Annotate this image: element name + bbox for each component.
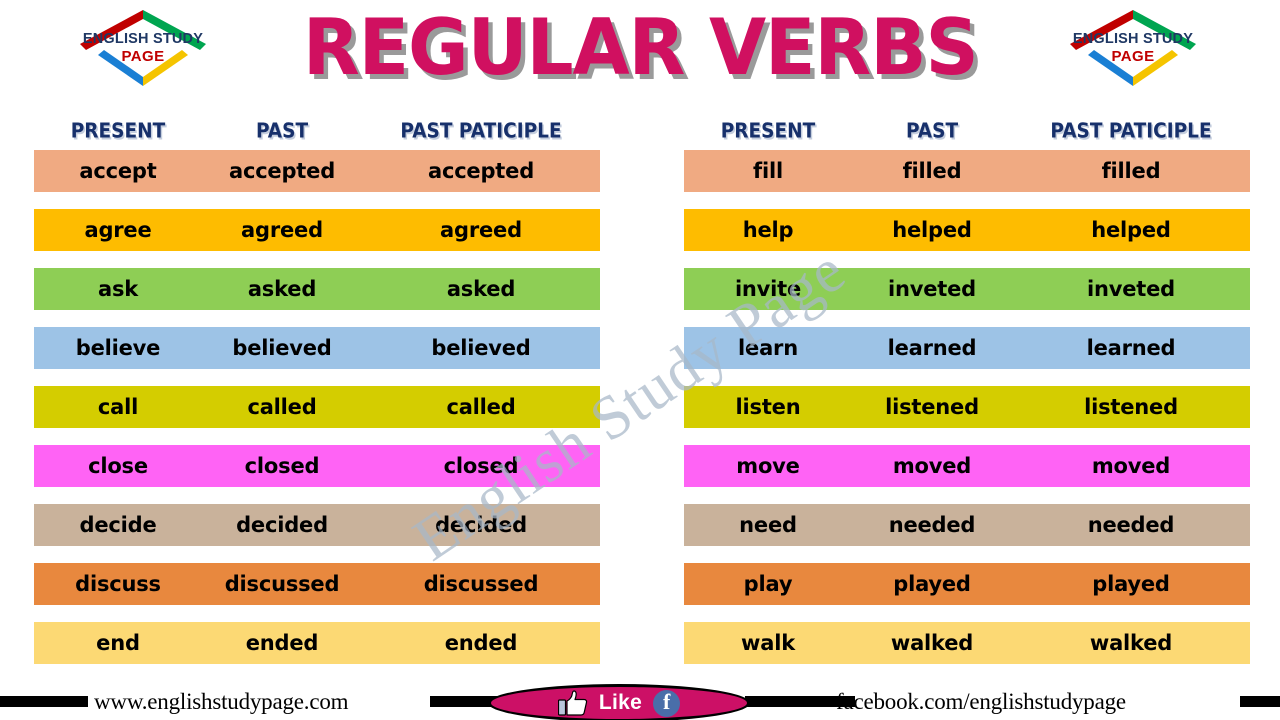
facebook-url[interactable]: facebook.com/englishstudypage [836,686,1126,718]
cell-past: moved [852,454,1012,478]
column-header-past-participle: PAST PATICIPLE [1012,119,1250,143]
column-header-present: PRESENT [684,119,852,143]
verbs-table-right: PRESENT PAST PAST PATICIPLE fillfilledfi… [684,112,1250,681]
page-title-text: REGULAR VERBS [303,2,978,93]
cell-present: learn [684,336,852,360]
cell-past: helped [852,218,1012,242]
cell-past: filled [852,159,1012,183]
table-row: endendedended [34,622,600,664]
cell-present: fill [684,159,852,183]
cell-present: agree [34,218,202,242]
table-body: fillfilledfilledhelphelpedhelpedinvitein… [684,150,1250,664]
table-row: agreeagreedagreed [34,209,600,251]
cell-present: play [684,572,852,596]
logo-line1: ENGLISH STUDY [1073,32,1193,47]
cell-past: needed [852,513,1012,537]
cell-present: need [684,513,852,537]
cell-past: played [852,572,1012,596]
page-title: REGULAR VERBS [300,4,980,90]
table-row: believebelievedbelieved [34,327,600,369]
table-row: playplayedplayed [684,563,1250,605]
table-row: learnlearnedlearned [684,327,1250,369]
cell-present: discuss [34,572,202,596]
cell-past: inveted [852,277,1012,301]
cell-past-participle: asked [362,277,600,301]
cell-past: discussed [202,572,362,596]
footer-rule-left [0,696,88,707]
table-row: helphelpedhelped [684,209,1250,251]
cell-past-participle: ended [362,631,600,655]
cell-present: listen [684,395,852,419]
logo-line1: ENGLISH STUDY [83,32,203,47]
table-row: discussdiscusseddiscussed [34,563,600,605]
cell-past: closed [202,454,362,478]
cell-present: invite [684,277,852,301]
logo-english-study-page-left: ENGLISH STUDY PAGE [68,4,218,92]
cell-past-participle: believed [362,336,600,360]
header: ENGLISH STUDY PAGE REGULAR VERBS ENGLISH… [0,0,1280,100]
cell-past-participle: filled [1012,159,1250,183]
cell-past-participle: called [362,395,600,419]
logo-english-study-page-right: ENGLISH STUDY PAGE [1058,4,1208,92]
cell-past: decided [202,513,362,537]
cell-present: end [34,631,202,655]
cell-past: ended [202,631,362,655]
website-url[interactable]: www.englishstudypage.com [94,686,348,718]
cell-present: move [684,454,852,478]
table-row: decidedecideddecided [34,504,600,546]
cell-past: walked [852,631,1012,655]
table-row: listenlistenedlistened [684,386,1250,428]
cell-past-participle: needed [1012,513,1250,537]
cell-present: decide [34,513,202,537]
cell-past-participle: accepted [362,159,600,183]
verbs-table-left: PRESENT PAST PAST PATICIPLE acceptaccept… [34,112,600,681]
table-row: fillfilledfilled [684,150,1250,192]
cell-present: close [34,454,202,478]
cell-past-participle: closed [362,454,600,478]
table-row: inviteinvetedinveted [684,268,1250,310]
cell-present: walk [684,631,852,655]
cell-past: called [202,395,362,419]
table-row: needneededneeded [684,504,1250,546]
table-body: acceptacceptedacceptedagreeagreedagreeda… [34,150,600,664]
table-row: movemovedmoved [684,445,1250,487]
table-row: acceptacceptedaccepted [34,150,600,192]
cell-past: listened [852,395,1012,419]
infographic-page: ENGLISH STUDY PAGE REGULAR VERBS ENGLISH… [0,0,1280,720]
cell-past-participle: moved [1012,454,1250,478]
logo-line2: PAGE [122,49,165,64]
cell-past-participle: discussed [362,572,600,596]
table-row: walkwalkedwalked [684,622,1250,664]
column-header-past: PAST [202,119,362,143]
cell-past: accepted [202,159,362,183]
logo-line2: PAGE [1112,49,1155,64]
cell-present: help [684,218,852,242]
cell-past-participle: learned [1012,336,1250,360]
cell-past-participle: helped [1012,218,1250,242]
table-row: callcalledcalled [34,386,600,428]
facebook-like-badge[interactable]: Like f [488,684,750,720]
cell-past: agreed [202,218,362,242]
cell-past: asked [202,277,362,301]
cell-present: believe [34,336,202,360]
cell-past: learned [852,336,1012,360]
table-row: askaskedasked [34,268,600,310]
table-row: closeclosedclosed [34,445,600,487]
cell-past-participle: decided [362,513,600,537]
cell-present: accept [34,159,202,183]
cell-past-participle: agreed [362,218,600,242]
table-header-row: PRESENT PAST PAST PATICIPLE [684,112,1250,150]
thumbs-up-icon [558,690,588,716]
like-label: Like [599,691,642,715]
cell-past-participle: inveted [1012,277,1250,301]
column-header-past: PAST [852,119,1012,143]
table-header-row: PRESENT PAST PAST PATICIPLE [34,112,600,150]
cell-present: call [34,395,202,419]
cell-past-participle: listened [1012,395,1250,419]
footer: www.englishstudypage.com Like f facebook… [0,686,1280,720]
column-header-past-participle: PAST PATICIPLE [362,119,600,143]
column-header-present: PRESENT [34,119,202,143]
cell-past-participle: walked [1012,631,1250,655]
cell-past-participle: played [1012,572,1250,596]
footer-rule-right [1240,696,1280,707]
facebook-icon[interactable]: f [653,690,680,717]
cell-past: believed [202,336,362,360]
cell-present: ask [34,277,202,301]
